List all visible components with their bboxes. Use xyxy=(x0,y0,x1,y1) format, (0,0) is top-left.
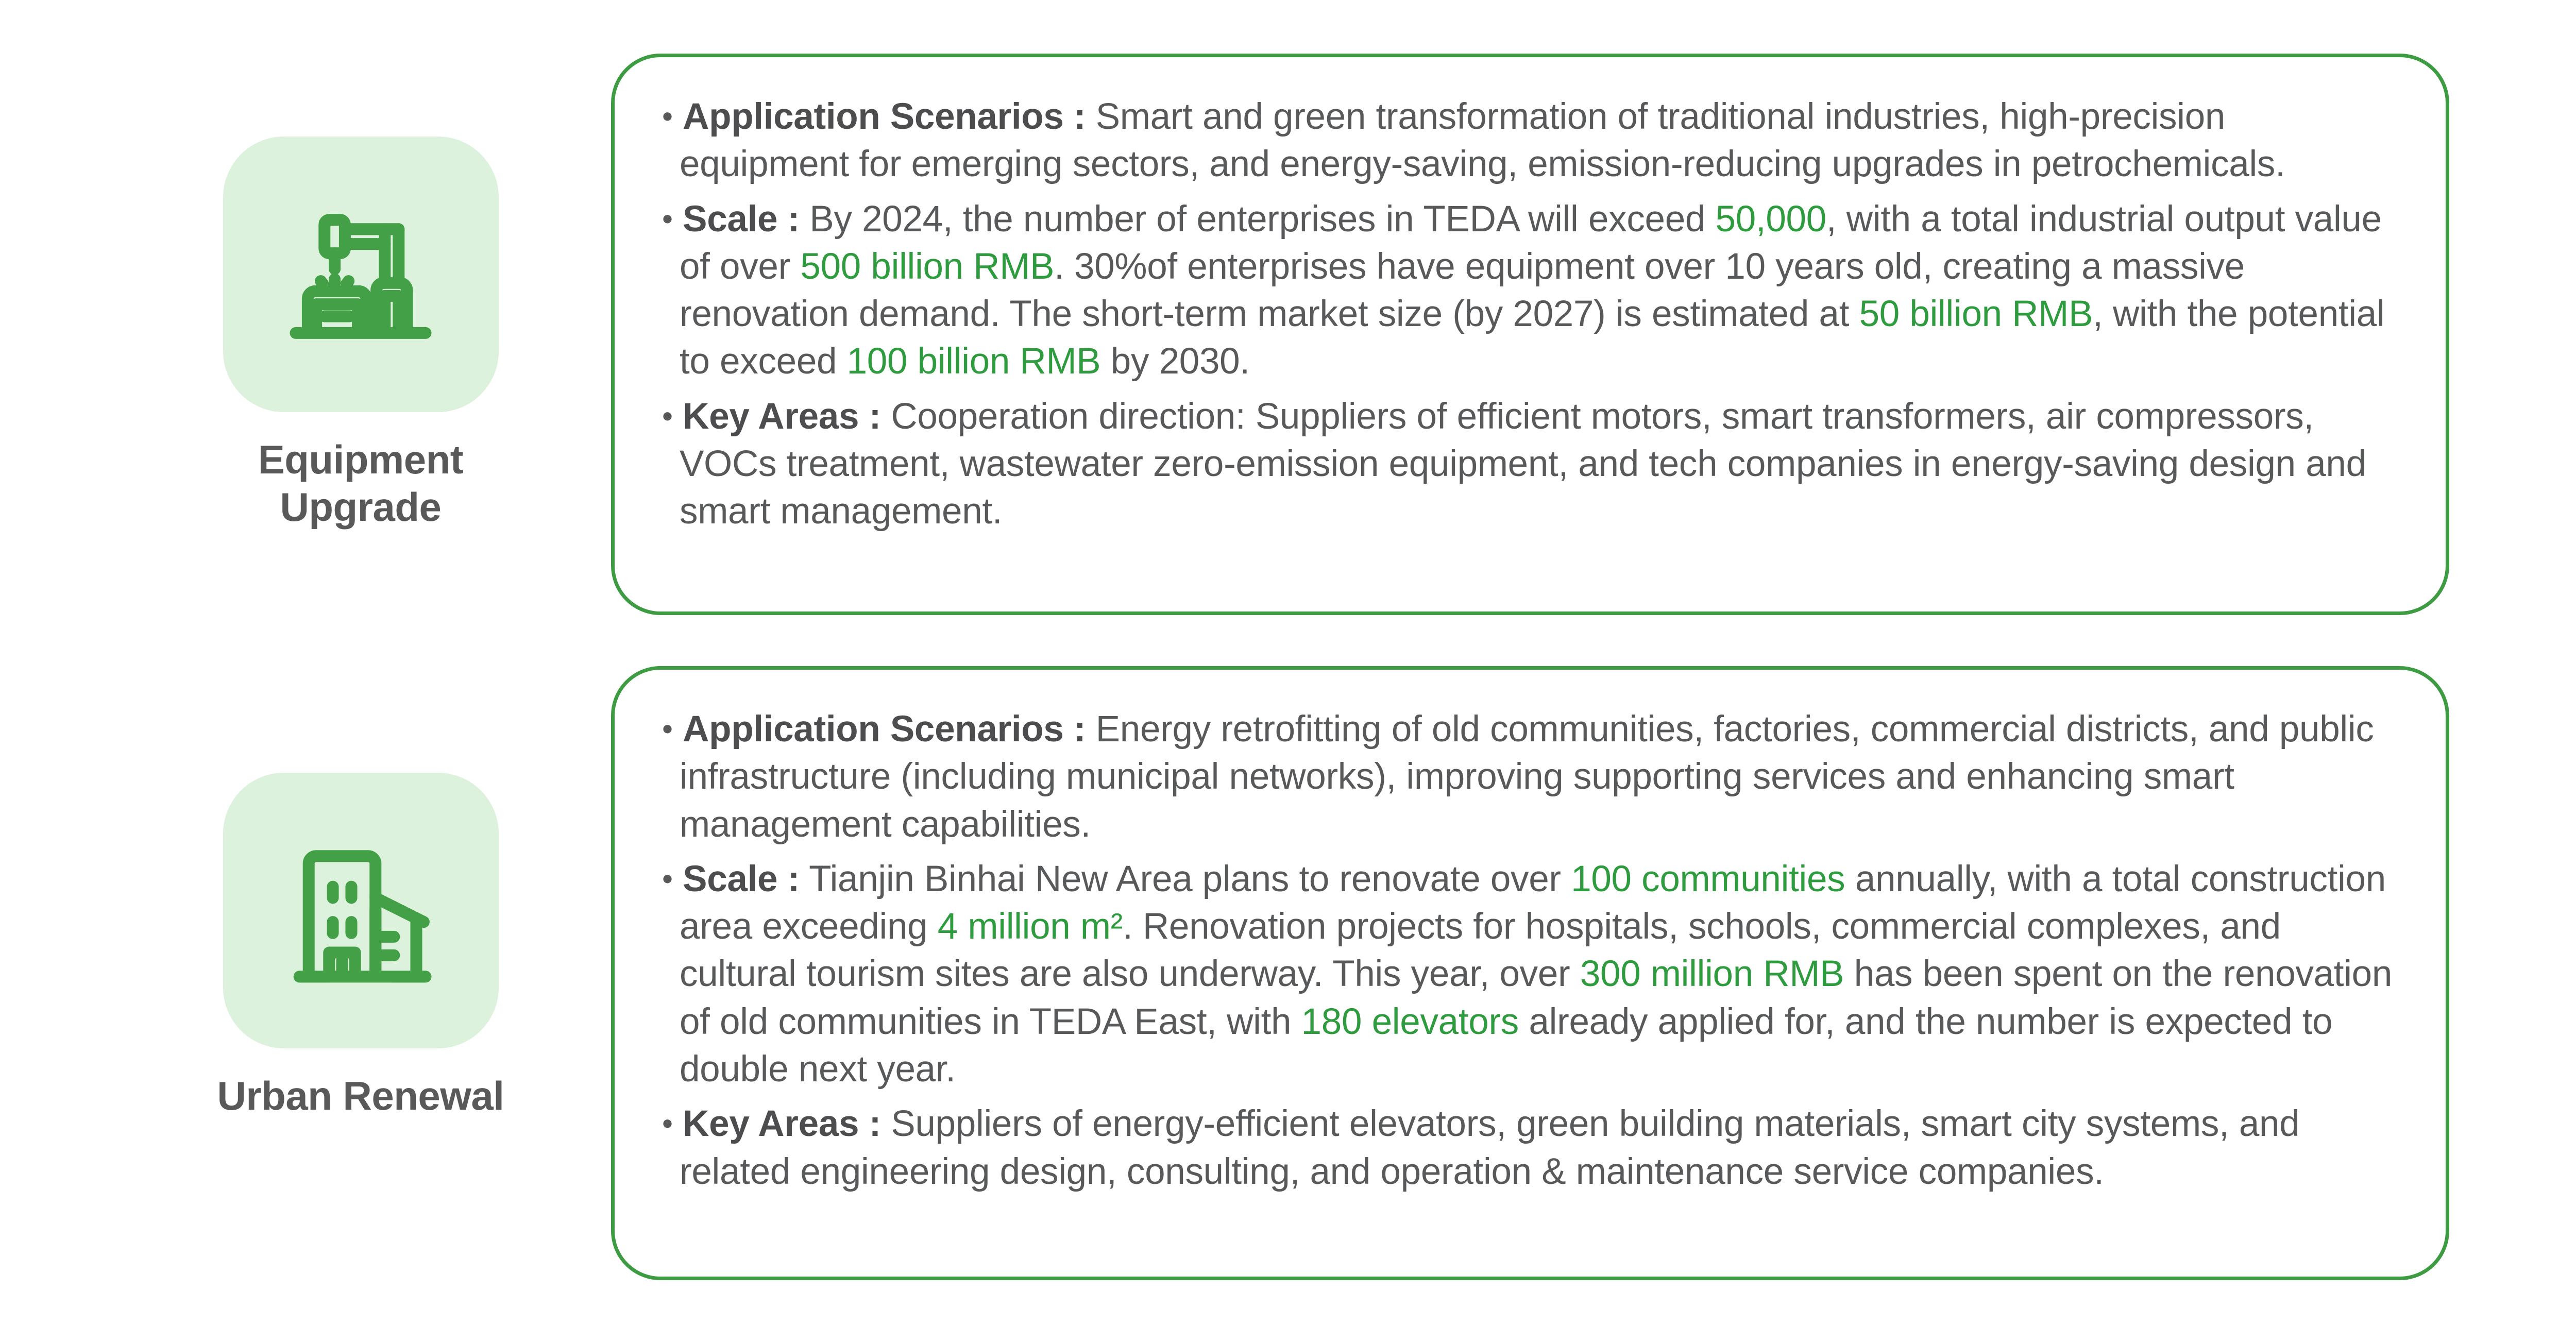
factory-equipment-icon-tile xyxy=(223,137,499,412)
paragraph-lead: Key Areas : xyxy=(683,1103,881,1144)
highlight-value: 100 communities xyxy=(1571,859,1845,899)
highlight-value: 50 billion RMB xyxy=(1859,294,2093,334)
bullet-glyph: • xyxy=(662,201,673,236)
bullet-glyph: • xyxy=(662,861,673,896)
paragraph-lead: Application Scenarios : xyxy=(683,96,1086,137)
section-label-urban-renewal: Urban Renewal xyxy=(180,773,541,1119)
infographic-page: Equipment Upgrade • Application Scenario… xyxy=(0,0,2576,1325)
section-label-equipment-upgrade: Equipment Upgrade xyxy=(180,137,541,531)
paragraph-application-scenarios: • Application Scenarios : Smart and gree… xyxy=(662,93,2398,189)
highlight-value: 100 billion RMB xyxy=(847,341,1101,382)
paragraph-key-areas: • Key Areas : Suppliers of energy-effici… xyxy=(662,1100,2398,1196)
section-label-text: Equipment Upgrade xyxy=(258,436,464,531)
section-label-text: Urban Renewal xyxy=(217,1072,504,1119)
paragraph-body: Tianjin Binhai New Area plans to renovat… xyxy=(800,859,1571,899)
highlight-value: 500 billion RMB xyxy=(800,246,1054,287)
building-icon xyxy=(268,818,453,1004)
bullet-glyph: • xyxy=(662,1107,673,1141)
paragraph-lead: Scale : xyxy=(683,199,800,240)
paragraph-body: Suppliers of energy-efficient elevators,… xyxy=(680,1103,2299,1192)
highlight-value: 4 million m² xyxy=(938,906,1123,947)
paragraph-body: By 2024, the number of enterprises in TE… xyxy=(800,199,1716,240)
paragraph-application-scenarios: • Application Scenarios : Energy retrofi… xyxy=(662,706,2398,848)
paragraph-scale: • Scale : By 2024, the number of enterpr… xyxy=(662,196,2398,386)
section-label-line: Upgrade xyxy=(258,483,464,531)
bullet-glyph: • xyxy=(662,711,673,746)
highlight-value: 300 million RMB xyxy=(1580,954,1844,994)
paragraph-lead: Application Scenarios : xyxy=(683,709,1086,750)
paragraph-body: Cooperation direction: Suppliers of effi… xyxy=(680,396,2366,532)
factory-equipment-icon xyxy=(268,182,453,367)
paragraph-scale: • Scale : Tianjin Binhai New Area plans … xyxy=(662,856,2398,1093)
highlight-value: 180 elevators xyxy=(1301,1001,1519,1042)
card-equipment-upgrade: • Application Scenarios : Smart and gree… xyxy=(611,54,2449,615)
paragraph-lead: Key Areas : xyxy=(683,396,881,437)
bullet-glyph: • xyxy=(662,399,673,433)
bullet-glyph: • xyxy=(662,99,673,133)
highlight-value: 50,000 xyxy=(1716,199,1826,240)
paragraph-key-areas: • Key Areas : Cooperation direction: Sup… xyxy=(662,393,2398,536)
section-label-line: Urban Renewal xyxy=(217,1072,504,1119)
building-icon-tile xyxy=(223,773,499,1048)
paragraph-lead: Scale : xyxy=(683,859,800,899)
paragraph-body: by 2030. xyxy=(1100,341,1249,382)
card-urban-renewal: • Application Scenarios : Energy retrofi… xyxy=(611,666,2449,1280)
section-label-line: Equipment xyxy=(258,436,464,483)
